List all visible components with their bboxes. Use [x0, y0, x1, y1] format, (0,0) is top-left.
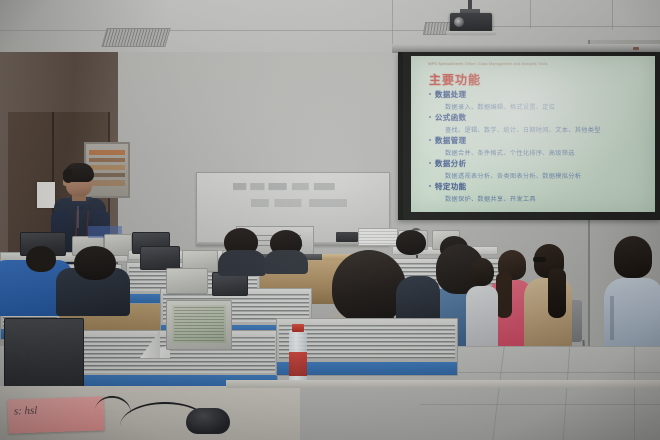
glasses-icon [533, 257, 546, 262]
student-dark-jacket [56, 246, 134, 306]
computer-mouse[interactable] [186, 408, 230, 434]
student-back-row [264, 230, 308, 264]
crt-monitor [166, 300, 232, 350]
whiteboard-eraser [336, 232, 358, 242]
crt-monitor [140, 246, 180, 270]
floor-tile-line [634, 346, 635, 440]
ceiling-seam [392, 0, 393, 44]
classroom-photo-scene: WPS Spreadsheets Office | Data Managemen… [0, 0, 660, 440]
floor-tile-line [440, 346, 660, 347]
ceiling-seam [0, 30, 430, 31]
long-hair [548, 268, 566, 318]
screen-projector-hotspot [470, 62, 590, 132]
ceiling-seam [612, 0, 613, 30]
bottle-label [289, 352, 307, 376]
screen-housing-bracket [633, 47, 639, 50]
student-back-row [218, 228, 266, 264]
desk-edge [226, 380, 660, 388]
ceiling-vent [101, 28, 170, 47]
floor-tile-line [420, 404, 660, 405]
floor-tile-line [430, 372, 660, 373]
bottle-cap [292, 324, 304, 332]
crt-monitor [166, 268, 208, 294]
presenter-hair-side [63, 169, 72, 183]
whiteboard-writing [251, 199, 347, 207]
sticky-note-text: s: hsl [14, 405, 38, 418]
screen-left-edge [398, 52, 403, 220]
seated-person-partial [466, 258, 500, 358]
projector-base-plate [446, 31, 496, 35]
shirt-fold [610, 296, 614, 340]
seated-woman-tan-jacket [524, 244, 576, 360]
ceiling-seam [530, 0, 531, 28]
projector-lens-icon [454, 17, 464, 27]
sticky-note: s: hsl [7, 396, 104, 433]
